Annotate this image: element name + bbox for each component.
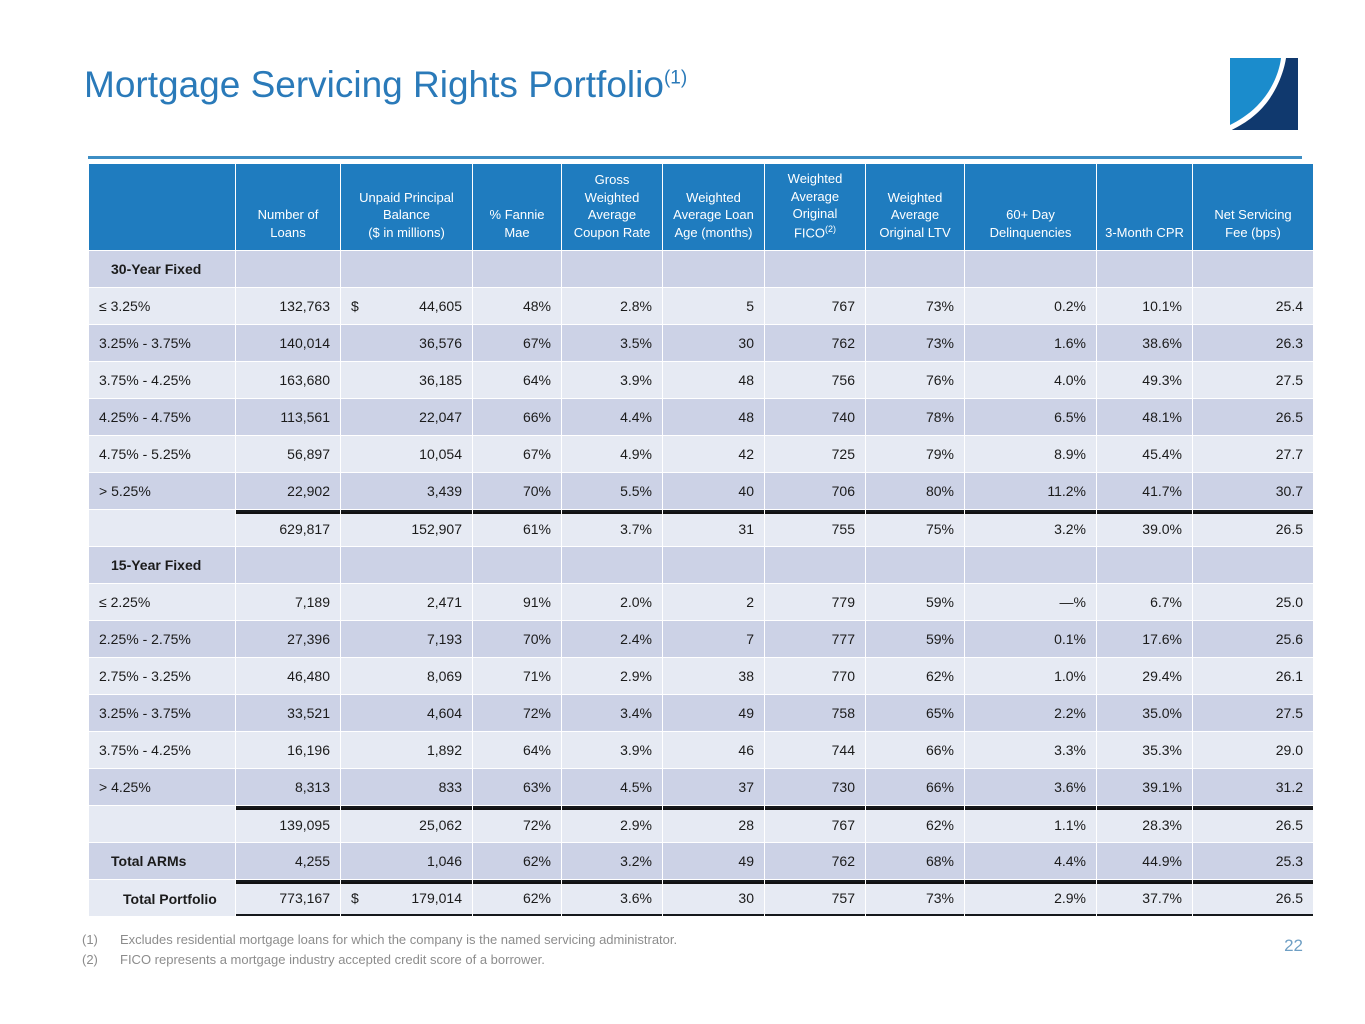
footnotes: (1)Excludes residential mortgage loans f… bbox=[82, 930, 677, 970]
hdr-line: Weighted bbox=[888, 190, 943, 205]
cell-wa-original-fico: 758 bbox=[765, 695, 865, 731]
cell-wa-original-ltv: 78% bbox=[866, 399, 964, 435]
cell-wa-original-ltv: 65% bbox=[866, 695, 964, 731]
cell-cpr: 39.1% bbox=[1097, 769, 1192, 805]
cell-delinquencies: 0.1% bbox=[965, 621, 1096, 657]
cell-unpaid-principal-balance: 8,069 bbox=[341, 658, 472, 694]
cell-pct-fannie-mae: 71% bbox=[473, 658, 561, 694]
cell-wa-original-fico: 770 bbox=[765, 658, 865, 694]
cell-pct-fannie-mae: 70% bbox=[473, 621, 561, 657]
cell-net-servicing-fee: 27.5 bbox=[1193, 362, 1313, 398]
header-cell-number-of-loans: Number of Loans bbox=[236, 164, 340, 250]
cell-number-of-loans: 22,902 bbox=[236, 473, 340, 509]
hdr-line: Average bbox=[891, 207, 939, 222]
table-row: 2.75% - 3.25%46,4808,06971%2.9%3877062%1… bbox=[89, 658, 1313, 694]
cell-unpaid-principal-balance: 25,062 bbox=[341, 806, 472, 842]
cell-delinquencies: 4.0% bbox=[965, 362, 1096, 398]
header-cell-3-month-cpr: 3-Month CPR bbox=[1097, 164, 1192, 250]
hdr-line: Weighted bbox=[686, 190, 741, 205]
cell-net-servicing-fee: 30.7 bbox=[1193, 473, 1313, 509]
cell-delinquencies bbox=[965, 547, 1096, 583]
cell-wa-original-fico bbox=[765, 547, 865, 583]
hdr-line: FICO bbox=[794, 225, 825, 240]
cell-number-of-loans: 33,521 bbox=[236, 695, 340, 731]
cell-unpaid-principal-balance: 3,439 bbox=[341, 473, 472, 509]
row-label: Total Portfolio bbox=[89, 880, 235, 916]
cell-wa-original-fico: 755 bbox=[765, 510, 865, 546]
hdr-line: 3-Month CPR bbox=[1105, 225, 1184, 240]
table-row: Total ARMs4,2551,04662%3.2%4976268%4.4%4… bbox=[89, 843, 1313, 879]
hdr-line: Fee (bps) bbox=[1225, 225, 1281, 240]
row-label: ≤ 2.25% bbox=[89, 584, 235, 620]
hdr-line: Unpaid Principal bbox=[359, 190, 454, 205]
cell-wa-original-ltv: 73% bbox=[866, 880, 964, 916]
cell-gross-wac: 2.4% bbox=[562, 621, 662, 657]
page-title-text: Mortgage Servicing Rights Portfolio bbox=[84, 64, 664, 105]
cell-wa-original-fico: 725 bbox=[765, 436, 865, 472]
hdr-line: Average bbox=[588, 207, 636, 222]
header-cell-wa-original-fico: Weighted Average Original FICO(2) bbox=[765, 164, 865, 250]
row-label: Total ARMs bbox=[89, 843, 235, 879]
cell-wa-original-ltv: 73% bbox=[866, 288, 964, 324]
hdr-line: Number of bbox=[258, 207, 319, 222]
cell-gross-wac: 3.9% bbox=[562, 732, 662, 768]
cell-pct-fannie-mae: 66% bbox=[473, 399, 561, 435]
cell-wa-original-fico: 757 bbox=[765, 880, 865, 916]
cell-unpaid-principal-balance: 36,185 bbox=[341, 362, 472, 398]
hdr-line: % Fannie bbox=[490, 207, 545, 222]
cell-wa-original-fico: 762 bbox=[765, 843, 865, 879]
cell-gross-wac: 2.9% bbox=[562, 658, 662, 694]
table-row: 3.75% - 4.25%16,1961,89264%3.9%4674466%3… bbox=[89, 732, 1313, 768]
hdr-superscript: (2) bbox=[825, 224, 836, 234]
cell-gross-wac: 4.4% bbox=[562, 399, 662, 435]
cell-wa-original-ltv bbox=[866, 251, 964, 287]
hdr-line: Original LTV bbox=[879, 225, 950, 240]
hdr-line: Weighted bbox=[788, 171, 843, 186]
cell-wa-original-ltv: 79% bbox=[866, 436, 964, 472]
cell-delinquencies: 11.2% bbox=[965, 473, 1096, 509]
table-body: 30-Year Fixed≤ 3.25%132,763$44,60548%2.8… bbox=[89, 251, 1313, 916]
cell-wala: 31 bbox=[663, 510, 764, 546]
header-row: Number of Loans Unpaid Principal Balance… bbox=[89, 164, 1313, 250]
cell-wa-original-fico: 744 bbox=[765, 732, 865, 768]
cell-wa-original-fico: 706 bbox=[765, 473, 865, 509]
cell-delinquencies: 1.0% bbox=[965, 658, 1096, 694]
cell-delinquencies: 4.4% bbox=[965, 843, 1096, 879]
cell-gross-wac: 4.9% bbox=[562, 436, 662, 472]
cell-pct-fannie-mae: 62% bbox=[473, 880, 561, 916]
cell-net-servicing-fee: 26.5 bbox=[1193, 880, 1313, 916]
cell-delinquencies: 3.2% bbox=[965, 510, 1096, 546]
cell-cpr: 39.0% bbox=[1097, 510, 1192, 546]
row-label bbox=[89, 806, 235, 842]
cell-cpr: 28.3% bbox=[1097, 806, 1192, 842]
footnote: (2)FICO represents a mortgage industry a… bbox=[82, 950, 677, 970]
cell-unpaid-principal-balance: 10,054 bbox=[341, 436, 472, 472]
table-row: > 5.25%22,9023,43970%5.5%4070680%11.2%41… bbox=[89, 473, 1313, 509]
table-top-rule bbox=[88, 156, 1302, 159]
cell-pct-fannie-mae: 72% bbox=[473, 695, 561, 731]
cell-wa-original-fico: 740 bbox=[765, 399, 865, 435]
mortgage-servicing-rights-table: Number of Loans Unpaid Principal Balance… bbox=[88, 163, 1314, 917]
cell-gross-wac: 3.7% bbox=[562, 510, 662, 546]
cell-cpr: 38.6% bbox=[1097, 325, 1192, 361]
row-label: 2.25% - 2.75% bbox=[89, 621, 235, 657]
cell-wa-original-fico: 756 bbox=[765, 362, 865, 398]
cell-number-of-loans: 132,763 bbox=[236, 288, 340, 324]
cell-number-of-loans: 56,897 bbox=[236, 436, 340, 472]
cell-wala: 48 bbox=[663, 362, 764, 398]
cell-number-of-loans: 140,014 bbox=[236, 325, 340, 361]
hdr-line: Delinquencies bbox=[990, 225, 1072, 240]
table-row: 3.25% - 3.75%140,01436,57667%3.5%3076273… bbox=[89, 325, 1313, 361]
cell-wala: 48 bbox=[663, 399, 764, 435]
footnote: (1)Excludes residential mortgage loans f… bbox=[82, 930, 677, 950]
cell-cpr bbox=[1097, 547, 1192, 583]
header-cell-blank bbox=[89, 164, 235, 250]
row-label: 3.25% - 3.75% bbox=[89, 325, 235, 361]
table-row: 2.25% - 2.75%27,3967,19370%2.4%777759%0.… bbox=[89, 621, 1313, 657]
cell-net-servicing-fee: 26.5 bbox=[1193, 510, 1313, 546]
cell-wa-original-fico: 777 bbox=[765, 621, 865, 657]
page-number: 22 bbox=[1284, 936, 1303, 956]
hdr-line: Original bbox=[793, 206, 838, 221]
cell-gross-wac bbox=[562, 251, 662, 287]
cell-net-servicing-fee bbox=[1193, 547, 1313, 583]
cell-wa-original-fico: 779 bbox=[765, 584, 865, 620]
cell-cpr: 17.6% bbox=[1097, 621, 1192, 657]
cell-pct-fannie-mae: 64% bbox=[473, 362, 561, 398]
cell-gross-wac: 2.8% bbox=[562, 288, 662, 324]
cell-wa-original-ltv bbox=[866, 547, 964, 583]
cell-wa-original-ltv: 73% bbox=[866, 325, 964, 361]
cell-cpr: 44.9% bbox=[1097, 843, 1192, 879]
cell-unpaid-principal-balance: 152,907 bbox=[341, 510, 472, 546]
cell-unpaid-principal-balance: 7,193 bbox=[341, 621, 472, 657]
cell-wa-original-fico: 767 bbox=[765, 288, 865, 324]
header-cell-60-day-delinquencies: 60+ Day Delinquencies bbox=[965, 164, 1096, 250]
cell-pct-fannie-mae bbox=[473, 547, 561, 583]
cell-net-servicing-fee: 26.5 bbox=[1193, 399, 1313, 435]
table-row: 15-Year Fixed bbox=[89, 547, 1313, 583]
cell-pct-fannie-mae: 63% bbox=[473, 769, 561, 805]
header-cell-wala: Weighted Average Loan Age (months) bbox=[663, 164, 764, 250]
cell-cpr: 29.4% bbox=[1097, 658, 1192, 694]
cell-pct-fannie-mae: 91% bbox=[473, 584, 561, 620]
cell-net-servicing-fee: 25.0 bbox=[1193, 584, 1313, 620]
cell-wala: 7 bbox=[663, 621, 764, 657]
currency-symbol: $ bbox=[351, 298, 359, 314]
cell-pct-fannie-mae: 62% bbox=[473, 843, 561, 879]
cell-delinquencies: 1.1% bbox=[965, 806, 1096, 842]
footnote-marker: (1) bbox=[82, 930, 120, 950]
cell-net-servicing-fee: 29.0 bbox=[1193, 732, 1313, 768]
table-row: 3.25% - 3.75%33,5214,60472%3.4%4975865%2… bbox=[89, 695, 1313, 731]
cell-net-servicing-fee: 25.4 bbox=[1193, 288, 1313, 324]
cell-wa-original-ltv: 68% bbox=[866, 843, 964, 879]
cell-number-of-loans: 7,189 bbox=[236, 584, 340, 620]
row-label: 4.75% - 5.25% bbox=[89, 436, 235, 472]
cell-wala bbox=[663, 547, 764, 583]
cell-unpaid-principal-balance: 833 bbox=[341, 769, 472, 805]
row-label: 3.25% - 3.75% bbox=[89, 695, 235, 731]
hdr-line: ($ in millions) bbox=[368, 225, 445, 240]
page-title-superscript: (1) bbox=[664, 68, 687, 89]
table-row: ≤ 3.25%132,763$44,60548%2.8%576773%0.2%1… bbox=[89, 288, 1313, 324]
cell-wa-original-fico bbox=[765, 251, 865, 287]
cell-delinquencies: 0.2% bbox=[965, 288, 1096, 324]
cell-net-servicing-fee: 25.3 bbox=[1193, 843, 1313, 879]
row-label: 2.75% - 3.25% bbox=[89, 658, 235, 694]
table-row: ≤ 2.25%7,1892,47191%2.0%277959%—%6.7%25.… bbox=[89, 584, 1313, 620]
cell-pct-fannie-mae: 64% bbox=[473, 732, 561, 768]
cell-gross-wac: 2.0% bbox=[562, 584, 662, 620]
cell-number-of-loans: 4,255 bbox=[236, 843, 340, 879]
cell-wala: 28 bbox=[663, 806, 764, 842]
row-label: 3.75% - 4.25% bbox=[89, 362, 235, 398]
row-label: 4.25% - 4.75% bbox=[89, 399, 235, 435]
cell-cpr: 37.7% bbox=[1097, 880, 1192, 916]
cell-unpaid-principal-balance: 36,576 bbox=[341, 325, 472, 361]
cell-wa-original-fico: 767 bbox=[765, 806, 865, 842]
row-label: 30-Year Fixed bbox=[89, 251, 235, 287]
footnote-text: Excludes residential mortgage loans for … bbox=[120, 932, 677, 947]
cell-unpaid-principal-balance: $179,014 bbox=[341, 880, 472, 916]
cell-delinquencies: 1.6% bbox=[965, 325, 1096, 361]
hdr-line: Loans bbox=[270, 225, 305, 240]
cell-wa-original-fico: 730 bbox=[765, 769, 865, 805]
cell-number-of-loans bbox=[236, 547, 340, 583]
cell-cpr: 48.1% bbox=[1097, 399, 1192, 435]
footnote-text: FICO represents a mortgage industry acce… bbox=[120, 952, 545, 967]
cell-delinquencies: 2.9% bbox=[965, 880, 1096, 916]
cell-wala: 30 bbox=[663, 325, 764, 361]
cell-net-servicing-fee: 26.5 bbox=[1193, 806, 1313, 842]
cell-gross-wac: 2.9% bbox=[562, 806, 662, 842]
cell-net-servicing-fee: 26.3 bbox=[1193, 325, 1313, 361]
cell-wa-original-ltv: 62% bbox=[866, 806, 964, 842]
header-cell-gross-wac: Gross Weighted Average Coupon Rate bbox=[562, 164, 662, 250]
header-cell-pct-fannie-mae: % Fannie Mae bbox=[473, 164, 561, 250]
header-cell-wa-original-ltv: Weighted Average Original LTV bbox=[866, 164, 964, 250]
cell-wa-original-ltv: 66% bbox=[866, 732, 964, 768]
cell-net-servicing-fee: 27.7 bbox=[1193, 436, 1313, 472]
table-row: > 4.25%8,31383363%4.5%3773066%3.6%39.1%3… bbox=[89, 769, 1313, 805]
table-row: 139,09525,06272%2.9%2876762%1.1%28.3%26.… bbox=[89, 806, 1313, 842]
cell-gross-wac: 5.5% bbox=[562, 473, 662, 509]
cell-gross-wac: 4.5% bbox=[562, 769, 662, 805]
cell-gross-wac: 3.6% bbox=[562, 880, 662, 916]
table-row: 3.75% - 4.25%163,68036,18564%3.9%4875676… bbox=[89, 362, 1313, 398]
cell-number-of-loans: 46,480 bbox=[236, 658, 340, 694]
row-label: 15-Year Fixed bbox=[89, 547, 235, 583]
cell-unpaid-principal-balance: 1,892 bbox=[341, 732, 472, 768]
row-label: > 5.25% bbox=[89, 473, 235, 509]
cell-wa-original-ltv: 75% bbox=[866, 510, 964, 546]
cell-gross-wac: 3.5% bbox=[562, 325, 662, 361]
cell-wala: 46 bbox=[663, 732, 764, 768]
cell-net-servicing-fee: 31.2 bbox=[1193, 769, 1313, 805]
cell-gross-wac: 3.9% bbox=[562, 362, 662, 398]
company-logo bbox=[1226, 55, 1302, 133]
cell-wala bbox=[663, 251, 764, 287]
cell-number-of-loans: 27,396 bbox=[236, 621, 340, 657]
cell-wala: 42 bbox=[663, 436, 764, 472]
row-label: 3.75% - 4.25% bbox=[89, 732, 235, 768]
cell-number-of-loans: 113,561 bbox=[236, 399, 340, 435]
table-row: 629,817152,90761%3.7%3175575%3.2%39.0%26… bbox=[89, 510, 1313, 546]
currency-symbol: $ bbox=[351, 890, 359, 906]
cell-number-of-loans bbox=[236, 251, 340, 287]
cell-wala: 2 bbox=[663, 584, 764, 620]
cell-wala: 49 bbox=[663, 695, 764, 731]
cell-number-of-loans: 8,313 bbox=[236, 769, 340, 805]
header-cell-net-servicing-fee: Net Servicing Fee (bps) bbox=[1193, 164, 1313, 250]
cell-number-of-loans: 163,680 bbox=[236, 362, 340, 398]
cell-pct-fannie-mae: 61% bbox=[473, 510, 561, 546]
cell-cpr: 10.1% bbox=[1097, 288, 1192, 324]
hdr-line: Net Servicing bbox=[1214, 207, 1291, 222]
table-header: Number of Loans Unpaid Principal Balance… bbox=[89, 164, 1313, 250]
cell-number-of-loans: 139,095 bbox=[236, 806, 340, 842]
cell-pct-fannie-mae: 70% bbox=[473, 473, 561, 509]
cell-net-servicing-fee: 27.5 bbox=[1193, 695, 1313, 731]
cell-net-servicing-fee: 26.1 bbox=[1193, 658, 1313, 694]
logo-mark bbox=[1226, 55, 1302, 133]
cell-wa-original-ltv: 62% bbox=[866, 658, 964, 694]
hdr-line: Balance bbox=[383, 207, 430, 222]
hdr-line: Weighted bbox=[585, 190, 640, 205]
cell-wala: 49 bbox=[663, 843, 764, 879]
cell-delinquencies: 8.9% bbox=[965, 436, 1096, 472]
row-label: ≤ 3.25% bbox=[89, 288, 235, 324]
cell-unpaid-principal-balance: 4,604 bbox=[341, 695, 472, 731]
cell-delinquencies: —% bbox=[965, 584, 1096, 620]
table-row: Total Portfolio773,167$179,01462%3.6%307… bbox=[89, 880, 1313, 916]
cell-value: 44,605 bbox=[419, 298, 462, 314]
cell-net-servicing-fee bbox=[1193, 251, 1313, 287]
cell-number-of-loans: 773,167 bbox=[236, 880, 340, 916]
cell-number-of-loans: 629,817 bbox=[236, 510, 340, 546]
msr-table-container: Number of Loans Unpaid Principal Balance… bbox=[88, 156, 1302, 917]
cell-wala: 5 bbox=[663, 288, 764, 324]
cell-delinquencies: 3.6% bbox=[965, 769, 1096, 805]
cell-value: 179,014 bbox=[411, 890, 462, 906]
cell-cpr: 6.7% bbox=[1097, 584, 1192, 620]
cell-cpr bbox=[1097, 251, 1192, 287]
cell-pct-fannie-mae: 72% bbox=[473, 806, 561, 842]
row-label bbox=[89, 510, 235, 546]
cell-wala: 40 bbox=[663, 473, 764, 509]
hdr-line: Average Loan bbox=[673, 207, 754, 222]
cell-gross-wac bbox=[562, 547, 662, 583]
cell-cpr: 35.3% bbox=[1097, 732, 1192, 768]
cell-wa-original-ltv: 59% bbox=[866, 621, 964, 657]
cell-cpr: 45.4% bbox=[1097, 436, 1192, 472]
cell-delinquencies bbox=[965, 251, 1096, 287]
cell-wala: 37 bbox=[663, 769, 764, 805]
cell-net-servicing-fee: 25.6 bbox=[1193, 621, 1313, 657]
footnote-marker: (2) bbox=[82, 950, 120, 970]
cell-unpaid-principal-balance: 2,471 bbox=[341, 584, 472, 620]
cell-cpr: 49.3% bbox=[1097, 362, 1192, 398]
page-title: Mortgage Servicing Rights Portfolio(1) bbox=[84, 64, 687, 106]
hdr-line: Age (months) bbox=[674, 225, 752, 240]
cell-delinquencies: 6.5% bbox=[965, 399, 1096, 435]
hdr-line: Gross bbox=[595, 172, 630, 187]
hdr-line: 60+ Day bbox=[1006, 207, 1055, 222]
header-cell-unpaid-principal-balance: Unpaid Principal Balance ($ in millions) bbox=[341, 164, 472, 250]
cell-unpaid-principal-balance bbox=[341, 251, 472, 287]
cell-wa-original-ltv: 66% bbox=[866, 769, 964, 805]
cell-pct-fannie-mae: 67% bbox=[473, 436, 561, 472]
cell-delinquencies: 2.2% bbox=[965, 695, 1096, 731]
cell-gross-wac: 3.4% bbox=[562, 695, 662, 731]
hdr-line: Coupon Rate bbox=[574, 225, 651, 240]
cell-pct-fannie-mae: 67% bbox=[473, 325, 561, 361]
table-row: 4.25% - 4.75%113,56122,04766%4.4%4874078… bbox=[89, 399, 1313, 435]
table-row: 4.75% - 5.25%56,89710,05467%4.9%4272579%… bbox=[89, 436, 1313, 472]
cell-wala: 38 bbox=[663, 658, 764, 694]
hdr-line: Average bbox=[791, 189, 839, 204]
hdr-line: Mae bbox=[504, 225, 529, 240]
cell-unpaid-principal-balance: $44,605 bbox=[341, 288, 472, 324]
cell-cpr: 35.0% bbox=[1097, 695, 1192, 731]
cell-unpaid-principal-balance: 1,046 bbox=[341, 843, 472, 879]
cell-unpaid-principal-balance: 22,047 bbox=[341, 399, 472, 435]
cell-cpr: 41.7% bbox=[1097, 473, 1192, 509]
cell-wa-original-ltv: 76% bbox=[866, 362, 964, 398]
cell-wa-original-fico: 762 bbox=[765, 325, 865, 361]
cell-number-of-loans: 16,196 bbox=[236, 732, 340, 768]
cell-pct-fannie-mae bbox=[473, 251, 561, 287]
cell-pct-fannie-mae: 48% bbox=[473, 288, 561, 324]
table-row: 30-Year Fixed bbox=[89, 251, 1313, 287]
cell-wa-original-ltv: 59% bbox=[866, 584, 964, 620]
cell-unpaid-principal-balance bbox=[341, 547, 472, 583]
cell-gross-wac: 3.2% bbox=[562, 843, 662, 879]
cell-wala: 30 bbox=[663, 880, 764, 916]
cell-delinquencies: 3.3% bbox=[965, 732, 1096, 768]
cell-wa-original-ltv: 80% bbox=[866, 473, 964, 509]
row-label: > 4.25% bbox=[89, 769, 235, 805]
